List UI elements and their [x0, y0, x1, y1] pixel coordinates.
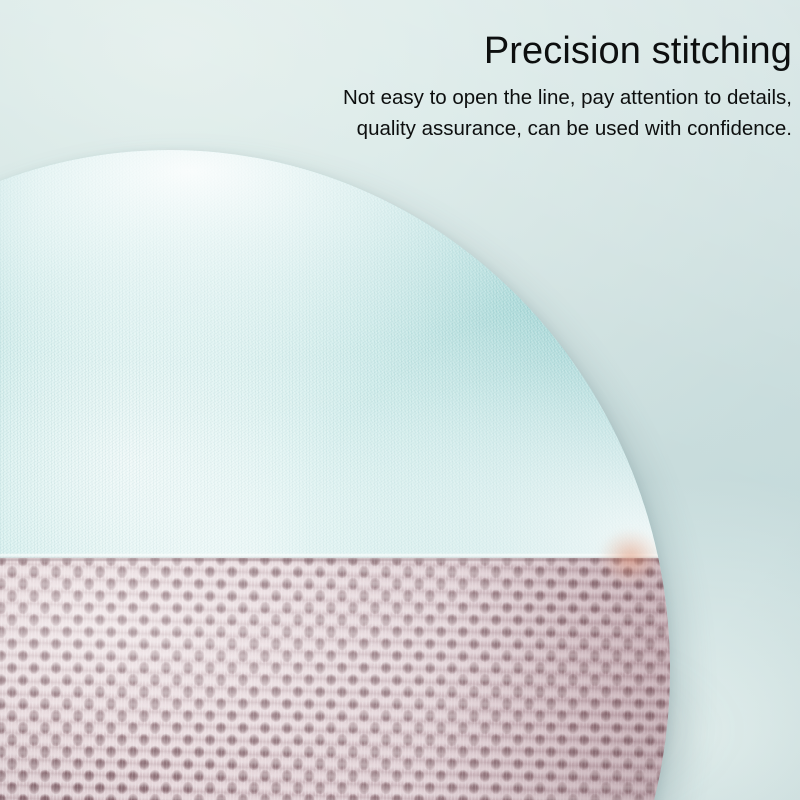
page-title: Precision stitching — [172, 28, 792, 74]
feature-copy-block: Precision stitching Not easy to open the… — [172, 28, 792, 144]
subtitle-line-one: Not easy to open the line, pay attention… — [172, 82, 792, 113]
product-feature-image: Precision stitching Not easy to open the… — [0, 0, 800, 800]
subtitle-line-two: quality assurance, can be used with conf… — [172, 113, 792, 144]
